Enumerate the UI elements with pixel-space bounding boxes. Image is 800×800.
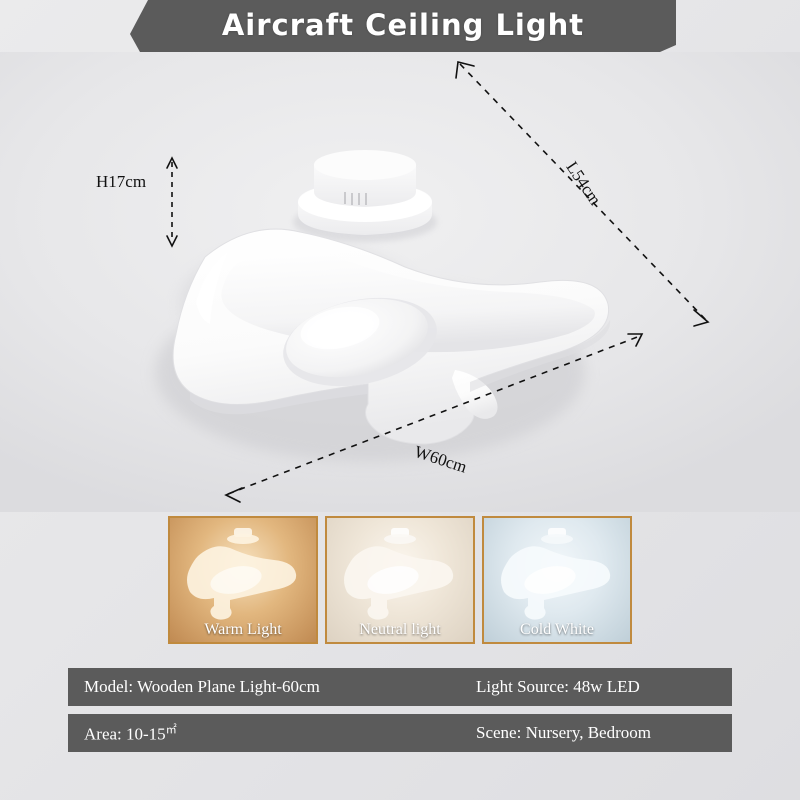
spec-model-label: Model: Wooden Plane Light-60cm	[68, 677, 476, 697]
swatch-neutral-light[interactable]: Neutral light	[325, 516, 475, 644]
ceiling-mount	[293, 150, 437, 242]
height-dimension-label: H17cm	[96, 172, 146, 192]
color-temperature-swatches: Warm Light Neutral light	[168, 516, 632, 644]
spec-area-cell: Area: 10-15㎡	[68, 721, 476, 745]
product-info-page: Aircraft Ceiling Light	[0, 0, 800, 800]
spec-row-area: Area: 10-15㎡ Scene: Nursery, Bedroom	[68, 714, 732, 752]
spec-light-source-label: Light Source: 48w LED	[476, 677, 640, 697]
spec-table: Model: Wooden Plane Light-60cm Light Sou…	[68, 668, 732, 760]
spec-area-unit: ㎡	[166, 724, 177, 736]
swatch-caption: Neutral light	[327, 621, 473, 639]
swatch-cold-white[interactable]: Cold White	[482, 516, 632, 644]
swatch-caption: Warm Light	[170, 621, 316, 639]
title-banner: Aircraft Ceiling Light	[130, 0, 676, 52]
page-title: Aircraft Ceiling Light	[130, 0, 676, 52]
lamp-svg	[0, 52, 800, 512]
spec-area-label: Area:	[84, 725, 122, 744]
spec-area-value: 10-15	[126, 725, 166, 744]
product-illustration	[0, 52, 800, 512]
spec-row-model: Model: Wooden Plane Light-60cm Light Sou…	[68, 668, 732, 706]
swatch-warm-light[interactable]: Warm Light	[168, 516, 318, 644]
spec-scene-label: Scene: Nursery, Bedroom	[476, 723, 651, 743]
swatch-caption: Cold White	[484, 621, 630, 639]
